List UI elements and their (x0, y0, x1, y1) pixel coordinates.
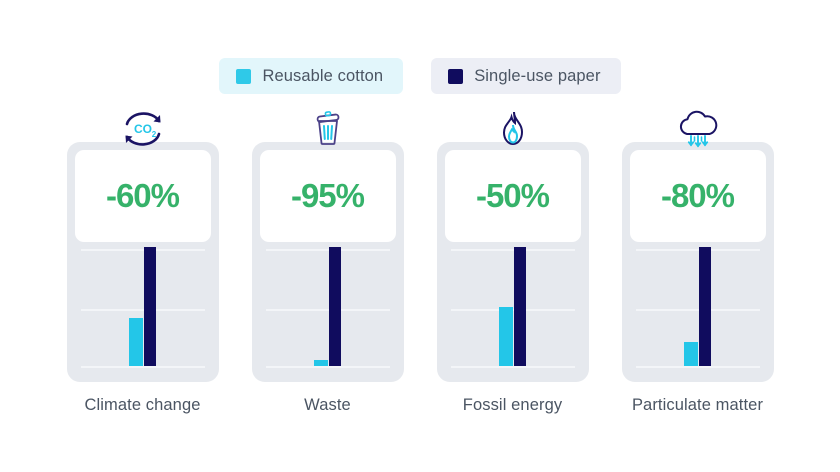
svg-text:CO: CO (134, 122, 152, 136)
flame-icon (437, 108, 589, 150)
bar-plot-area (260, 247, 396, 378)
bar-reusable-cotton (314, 360, 328, 366)
category-label-waste: Waste (252, 396, 404, 415)
bar-single-use-paper (699, 247, 711, 366)
trash-bin-icon (252, 108, 404, 150)
card-fossil-energy[interactable]: -50% (437, 142, 589, 382)
legend-swatch-cotton-icon (236, 69, 251, 84)
bar-single-use-paper (144, 247, 156, 366)
percentage-panel: -95% (260, 150, 396, 242)
bar-reusable-cotton (499, 307, 513, 367)
legend-item-reusable-cotton[interactable]: Reusable cotton (219, 58, 403, 94)
reduction-percentage: -50% (476, 177, 549, 215)
bar-single-use-paper (514, 247, 526, 366)
percentage-panel: -50% (445, 150, 581, 242)
bar-group (260, 247, 396, 366)
reduction-percentage: -80% (661, 177, 734, 215)
svg-text:2: 2 (151, 130, 156, 139)
card-body: -95% (252, 142, 404, 382)
percentage-panel: -80% (630, 150, 766, 242)
gridline-bottom (451, 366, 575, 368)
percentage-panel: -60% (75, 150, 211, 242)
bar-single-use-paper (329, 247, 341, 366)
reduction-percentage: -60% (106, 177, 179, 215)
category-label-fossil-energy: Fossil energy (437, 396, 589, 415)
gridline-bottom (266, 366, 390, 368)
reduction-percentage: -95% (291, 177, 364, 215)
card-body: -50% (437, 142, 589, 382)
card-particulate-matter[interactable]: -80% (622, 142, 774, 382)
gridline-bottom (636, 366, 760, 368)
legend-swatch-paper-icon (448, 69, 463, 84)
bar-group (445, 247, 581, 366)
legend-label-paper: Single-use paper (474, 67, 600, 86)
card-body: -80% (622, 142, 774, 382)
legend-item-single-use-paper[interactable]: Single-use paper (431, 58, 620, 94)
bar-plot-area (75, 247, 211, 378)
co2-cycle-icon: CO 2 (67, 108, 219, 150)
card-body: CO 2 -60% (67, 142, 219, 382)
gridline-bottom (81, 366, 205, 368)
card-waste[interactable]: -95% (252, 142, 404, 382)
chart-cards-row: CO 2 -60% (0, 142, 840, 382)
rain-cloud-icon (622, 108, 774, 150)
legend-label-cotton: Reusable cotton (262, 67, 383, 86)
chart-legend: Reusable cotton Single-use paper (0, 58, 840, 94)
category-label-climate-change: Climate change (67, 396, 219, 415)
bar-plot-area (630, 247, 766, 378)
bar-plot-area (445, 247, 581, 378)
card-climate-change[interactable]: CO 2 -60% (67, 142, 219, 382)
category-labels-row: Climate change Waste Fossil energy Parti… (0, 396, 840, 415)
category-label-particulate-matter: Particulate matter (622, 396, 774, 415)
bar-reusable-cotton (684, 342, 698, 366)
bar-group (75, 247, 211, 366)
bar-reusable-cotton (129, 318, 143, 366)
bar-group (630, 247, 766, 366)
